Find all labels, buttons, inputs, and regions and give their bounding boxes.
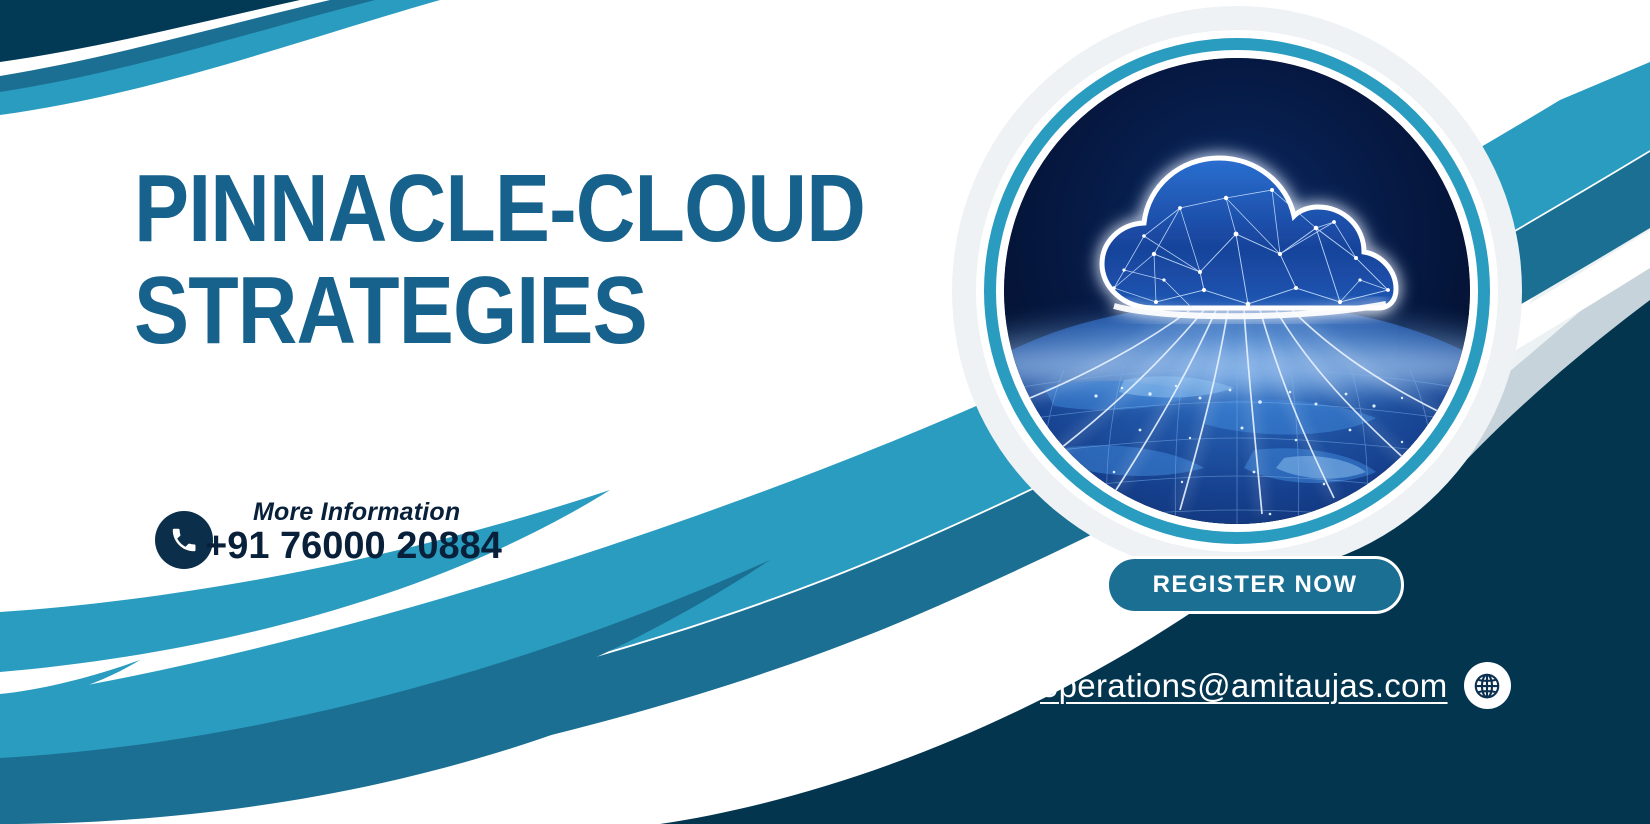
- contact-block: More Information +91 76000 20884: [155, 500, 502, 569]
- promo-banner: PINNACLE-CLOUD STRATEGIES More Informati…: [0, 0, 1650, 824]
- page-title: PINNACLE-CLOUD STRATEGIES: [134, 158, 934, 362]
- email-row: operations@amitaujas.com: [1040, 662, 1511, 709]
- email-address[interactable]: operations@amitaujas.com: [1040, 667, 1448, 705]
- more-information-label: More Information: [253, 500, 502, 525]
- phone-number[interactable]: +91 76000 20884: [205, 527, 502, 567]
- cloud-network-globe-image: [1004, 58, 1470, 524]
- contact-text: More Information +91 76000 20884: [205, 500, 502, 569]
- register-now-button[interactable]: REGISTER NOW: [1106, 556, 1404, 614]
- headline-line-1: PINNACLE-CLOUD: [134, 158, 822, 260]
- globe-icon[interactable]: [1464, 662, 1511, 709]
- headline-line-2: STRATEGIES: [134, 260, 822, 362]
- register-now-label: REGISTER NOW: [1153, 571, 1358, 599]
